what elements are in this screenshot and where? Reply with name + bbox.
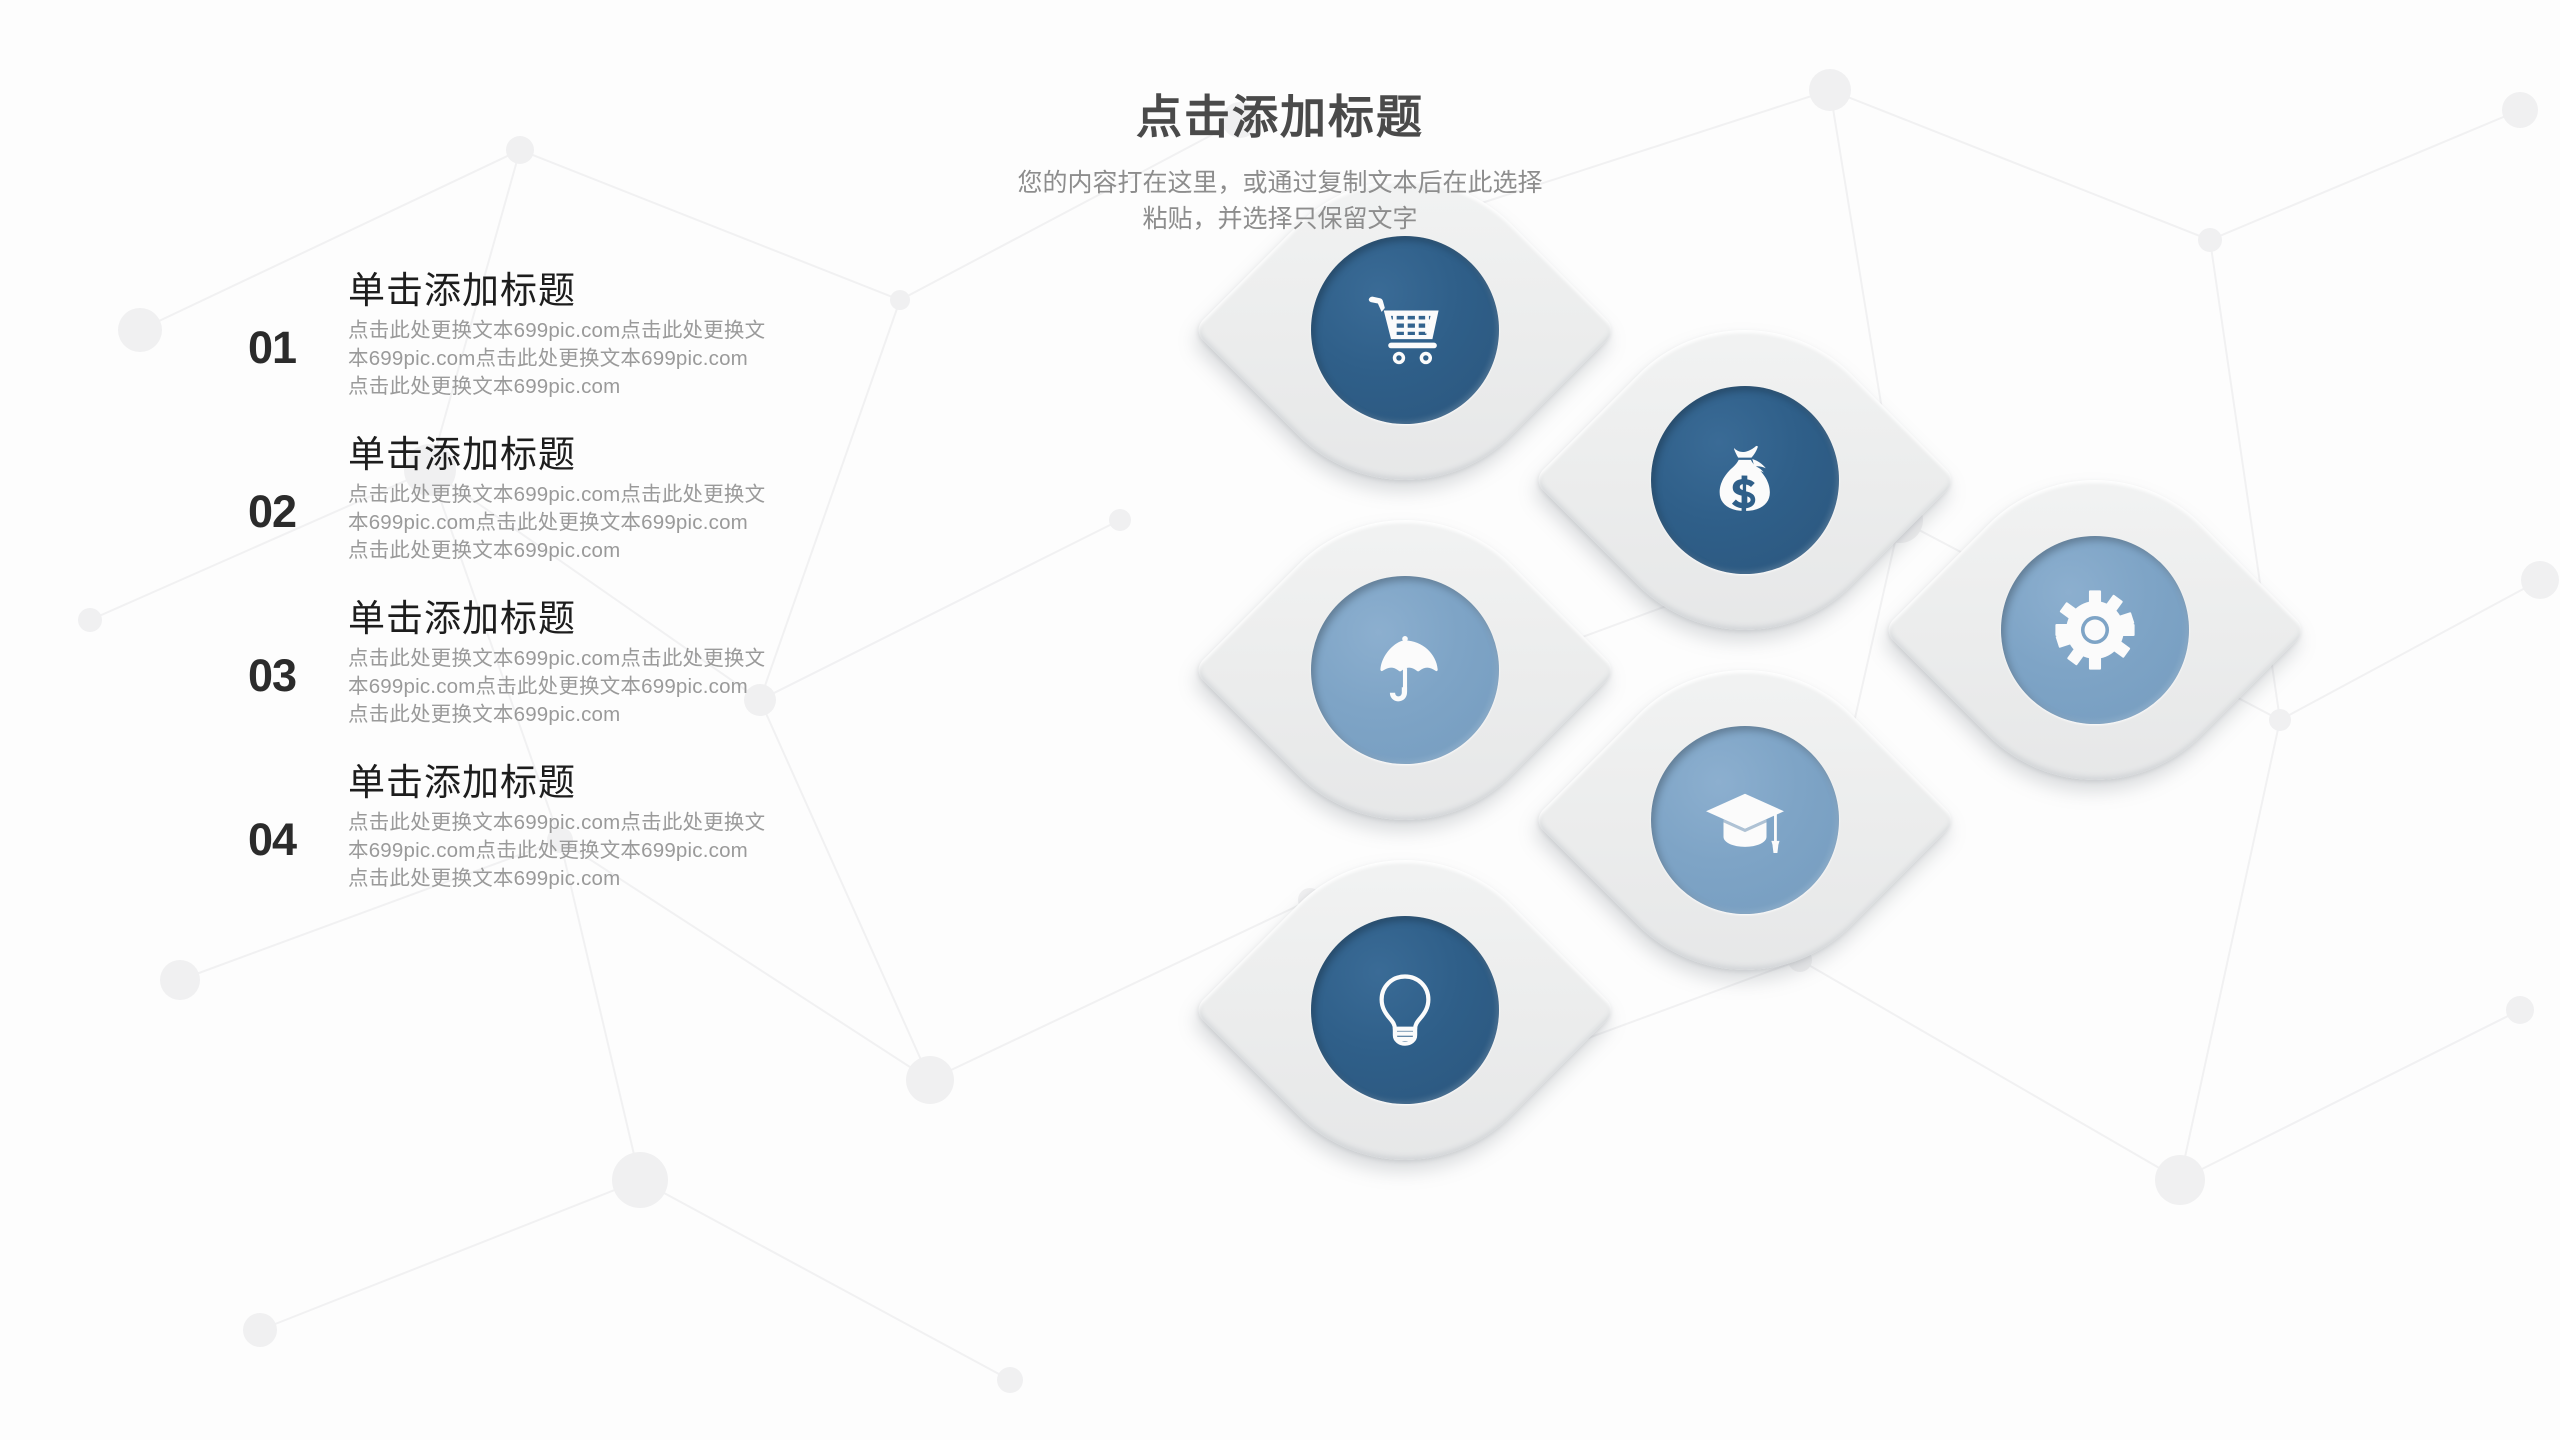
list-item-title: 单击添加标题 xyxy=(348,598,768,641)
list-item-number: 03 xyxy=(248,653,324,698)
page-subtitle-line-1: 您的内容打在这里，或通过复制文本后在此选择 xyxy=(780,165,1780,201)
list-item-body: 单击添加标题 点击此处更换文本699pic.com点击此处更换文本699pic.… xyxy=(348,434,768,565)
page-subtitle-line-2: 粘贴，并选择只保留文字 xyxy=(780,201,1780,237)
list-item-text: 点击此处更换文本699pic.com点击此处更换文本699pic.com点击此处… xyxy=(348,809,768,894)
umbrella-icon xyxy=(1364,629,1446,711)
list-item-body: 单击添加标题 点击此处更换文本699pic.com点击此处更换文本699pic.… xyxy=(348,598,768,729)
graduation-cap-icon xyxy=(1702,777,1788,863)
list-item-title: 单击添加标题 xyxy=(348,270,768,313)
list-item-text: 点击此处更换文本699pic.com点击此处更换文本699pic.com点击此处… xyxy=(348,481,768,566)
icon-disc xyxy=(1311,236,1499,424)
list-item-text: 点击此处更换文本699pic.com点击此处更换文本699pic.com点击此处… xyxy=(348,317,768,402)
header: 点击添加标题 您的内容打在这里，或通过复制文本后在此选择 粘贴，并选择只保留文字 xyxy=(780,92,1780,237)
list-item-title: 单击添加标题 xyxy=(348,434,768,477)
list-item[interactable]: 02 单击添加标题 点击此处更换文本699pic.com点击此处更换文本699p… xyxy=(248,434,948,598)
list-item[interactable]: 04 单击添加标题 点击此处更换文本699pic.com点击此处更换文本699p… xyxy=(248,762,948,926)
list-item-body: 单击添加标题 点击此处更换文本699pic.com点击此处更换文本699pic.… xyxy=(348,762,768,893)
list-item-number: 01 xyxy=(248,325,324,370)
icon-disc xyxy=(1311,916,1499,1104)
money-bag-icon xyxy=(1706,441,1784,519)
list-item-text: 点击此处更换文本699pic.com点击此处更换文本699pic.com点击此处… xyxy=(348,645,768,730)
petal-lightbulb[interactable] xyxy=(1193,798,1617,1222)
lightbulb-icon xyxy=(1363,968,1447,1052)
icon-disc xyxy=(1651,726,1839,914)
list-item-body: 单击添加标题 点击此处更换文本699pic.com点击此处更换文本699pic.… xyxy=(348,270,768,401)
list-item[interactable]: 03 单击添加标题 点击此处更换文本699pic.com点击此处更换文本699p… xyxy=(248,598,948,762)
icon-disc xyxy=(2001,536,2189,724)
petal-diagram xyxy=(1255,150,2545,1300)
icon-disc xyxy=(1651,386,1839,574)
list-item[interactable]: 01 单击添加标题 点击此处更换文本699pic.com点击此处更换文本699p… xyxy=(248,270,948,434)
icon-disc xyxy=(1311,576,1499,764)
shopping-cart-icon xyxy=(1362,287,1448,373)
page-subtitle: 您的内容打在这里，或通过复制文本后在此选择 粘贴，并选择只保留文字 xyxy=(780,165,1780,238)
list-item-number: 02 xyxy=(248,489,324,534)
list-item-title: 单击添加标题 xyxy=(348,762,768,805)
numbered-list: 01 单击添加标题 点击此处更换文本699pic.com点击此处更换文本699p… xyxy=(248,270,948,926)
gear-icon xyxy=(2051,586,2139,674)
list-item-number: 04 xyxy=(248,817,324,862)
page-title: 点击添加标题 xyxy=(780,92,1780,143)
